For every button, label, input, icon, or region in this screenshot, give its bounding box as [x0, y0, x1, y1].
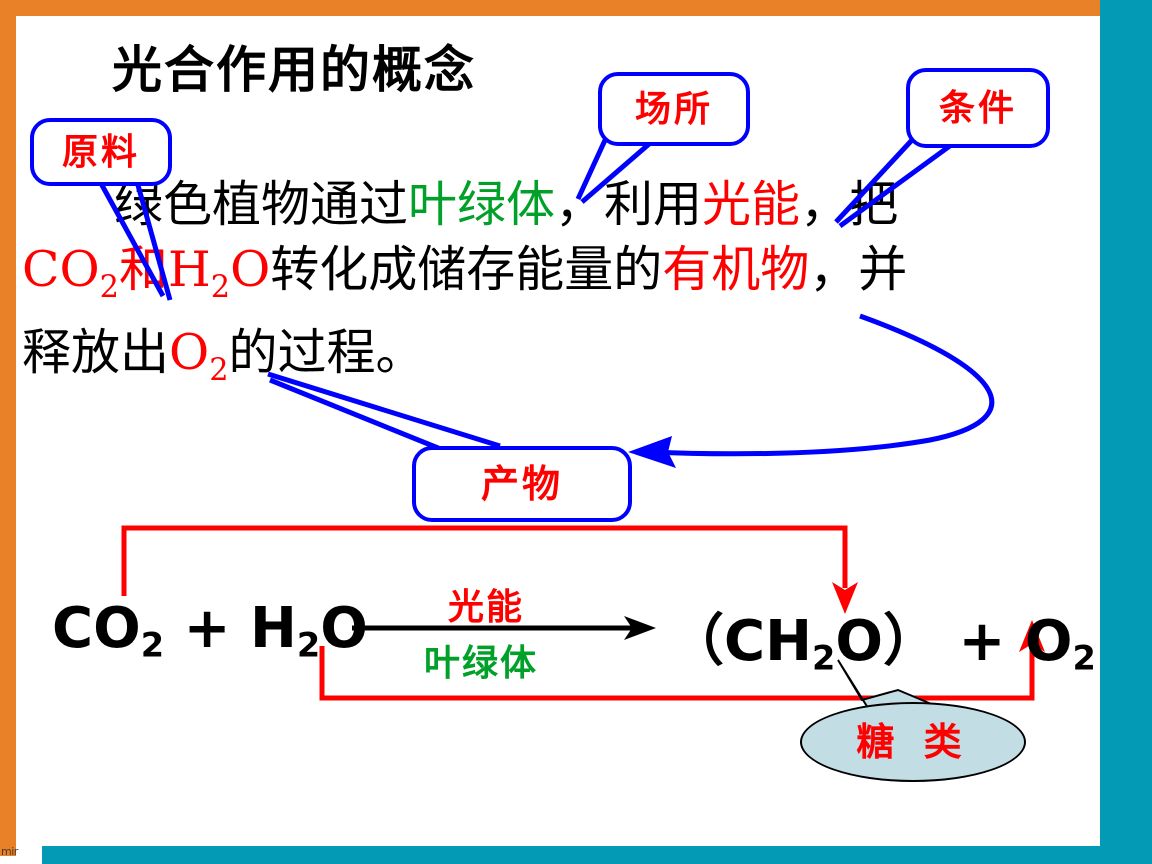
sugar-callout-label: 糖 类 — [856, 723, 969, 761]
arrowhead-reaction — [624, 616, 656, 640]
frame-top-bar — [0, 0, 1100, 16]
h2o-subscript: 2 — [211, 270, 230, 305]
callout-product-label: 产物 — [481, 465, 563, 503]
callout-condition-label: 条件 — [939, 90, 1017, 126]
text-chloroplast: 叶绿体 — [408, 176, 555, 233]
text-organic-matter: 有机物 — [662, 241, 809, 298]
equation-ch2o-open: （CH — [668, 609, 812, 674]
formula-co2-inline: CO2和H2O — [22, 241, 270, 298]
h2o-oxygen: O — [230, 241, 270, 298]
text-release: 释放出 — [22, 324, 169, 381]
equation-plus-1: + — [164, 596, 250, 661]
callout-site-label: 场所 — [635, 91, 713, 127]
page-title: 光合作用的概念 — [112, 30, 476, 102]
arrow-label-chloroplast: 叶绿体 — [424, 634, 538, 686]
callout-product[interactable]: 产物 — [412, 446, 632, 522]
equation-ch2o-subscript: 2 — [812, 638, 835, 677]
callout-raw-material[interactable]: 原料 — [30, 118, 172, 186]
text-comma-1: ，利用 — [555, 176, 702, 233]
equation-co2-subscript: 2 — [141, 625, 164, 664]
callout-site[interactable]: 场所 — [598, 72, 750, 146]
equation-h2o-subscript: 2 — [297, 625, 320, 664]
text-comma-2: ，把 — [800, 176, 898, 233]
sugar-callout-bubble[interactable]: 糖 类 — [800, 702, 1026, 782]
callout-condition[interactable]: 条件 — [906, 68, 1050, 148]
definition-paragraph: 绿色植物通过叶绿体，利用光能，把CO2和H2O转化成储存能量的有机物，并释放出O… — [22, 172, 1082, 403]
frame-bottom-bar — [42, 846, 1152, 864]
slide-canvas: mir 光合作用的概念 绿色植物通过叶绿体，利用光能，把CO2和H2O转化成储存… — [0, 0, 1152, 864]
frame-left-bar — [0, 0, 16, 856]
o2-subscript: 2 — [209, 353, 228, 388]
equation-h2o-h: H — [250, 596, 297, 661]
co2-symbol: CO — [22, 241, 100, 298]
arrowhead-product-right — [628, 436, 676, 468]
text-convert: 转化成储存能量的 — [270, 241, 662, 298]
text-end: 的过程。 — [229, 324, 425, 381]
frame-right-bar — [1100, 0, 1152, 864]
text-and-2: ，并 — [809, 241, 907, 298]
text-light-energy: 光能 — [702, 176, 800, 233]
equation-plus-2: + O — [939, 609, 1073, 674]
equation-o2-subscript: 2 — [1072, 638, 1095, 677]
equation-reactants: CO2 + H2O — [52, 596, 368, 664]
equation-co2-symbol: CO — [52, 596, 141, 661]
text-and-h: 和H — [119, 241, 211, 298]
o2-symbol: O — [169, 324, 209, 381]
corner-watermark-text: mir — [1, 845, 18, 859]
callout-raw-material-label: 原料 — [62, 134, 140, 170]
formula-o2-inline: O2 — [169, 324, 229, 381]
arrow-label-light-energy: 光能 — [448, 578, 524, 630]
co2-subscript: 2 — [100, 270, 119, 305]
equation-ch2o-close: O） — [835, 609, 939, 674]
equation-products: （CH2O） + O2 — [668, 596, 1096, 677]
equation-h2o-o: O — [320, 596, 368, 661]
